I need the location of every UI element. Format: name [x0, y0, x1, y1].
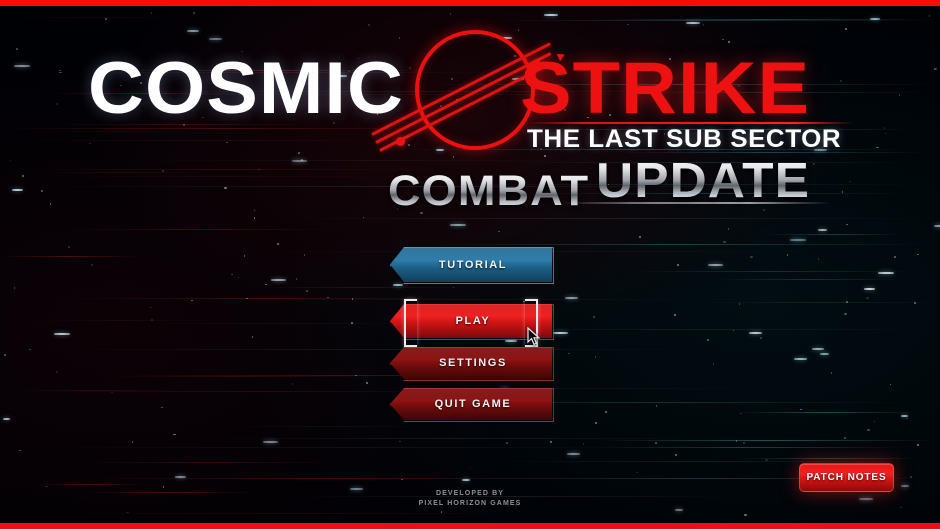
bottom-accent-bar — [0, 523, 940, 529]
menu-button-settings-label: SETTINGS — [439, 357, 507, 369]
selection-bracket-right — [525, 299, 538, 347]
patch-notes-button[interactable]: PATCH NOTES — [799, 463, 894, 492]
game-main-menu-screen: COSMIC STRIKE THE LAST SUB SECTOR COMBAT… — [0, 0, 940, 529]
developer-credits: DEVELOPED BY PIXEL HORIZON GAMES — [0, 489, 940, 509]
top-accent-bar — [0, 0, 940, 6]
menu-button-tutorial[interactable]: TUTORIAL — [390, 247, 552, 282]
credit-line-1: DEVELOPED BY — [0, 489, 940, 499]
credit-line-2: PIXEL HORIZON GAMES — [0, 499, 940, 509]
menu-button-tutorial-label: TUTORIAL — [439, 259, 507, 271]
menu-button-quit-game-label: QUIT GAME — [435, 398, 512, 410]
menu-button-quit-game[interactable]: QUIT GAME — [390, 388, 552, 420]
selection-bracket-left — [404, 299, 417, 347]
patch-notes-label: PATCH NOTES — [806, 472, 886, 483]
main-menu: TUTORIAL PLAY SETTINGS QUIT GAME — [0, 0, 940, 529]
menu-button-play-label: PLAY — [456, 315, 491, 327]
menu-button-settings[interactable]: SETTINGS — [390, 347, 552, 379]
